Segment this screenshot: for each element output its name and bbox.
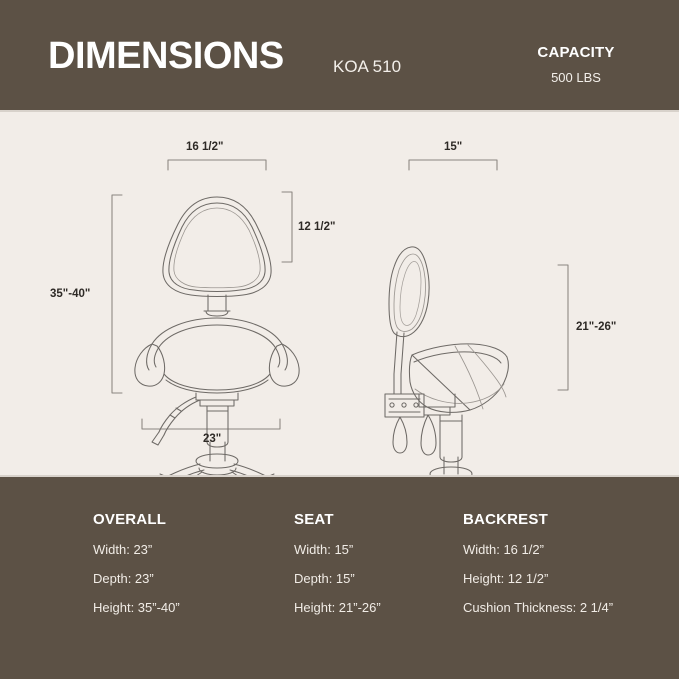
dimension-bracket-seat-height [558,265,568,390]
spec-line: Cushion Thickness: 2 1/4” [463,601,613,614]
spec-line: Depth: 15” [294,572,381,585]
spec-column-overall: OVERALL Width: 23” Depth: 23” Height: 35… [93,512,180,630]
capacity-value: 500 LBS [478,70,674,86]
spec-line: Height: 35”-40” [93,601,180,614]
dimension-bracket-overall-height [112,195,122,393]
model-code: KOA 510 [333,58,401,75]
spec-line: Height: 21”-26” [294,601,381,614]
dimension-bracket-backrest-height [282,192,292,262]
capacity-label: CAPACITY [478,44,674,63]
dimension-label-seat-height: 21"-26" [576,322,616,334]
dimension-label-overall-height: 35"-40" [50,289,90,301]
spec-column-backrest: BACKREST Width: 16 1/2” Height: 12 1/2” … [463,512,613,630]
dimension-label-backrest-width: 16 1/2" [186,142,223,154]
dimension-label-overall-width: 23" [203,434,221,446]
spec-heading: BACKREST [463,512,613,527]
spec-heading: SEAT [294,512,381,527]
spec-line: Height: 12 1/2” [463,572,613,585]
capacity-block: CAPACITY 500 LBS [478,44,674,86]
specs-band: OVERALL Width: 23” Depth: 23” Height: 35… [0,477,679,679]
spec-line: Depth: 23” [93,572,180,585]
dimension-label-backrest-height: 12 1/2" [298,222,335,234]
spec-heading: OVERALL [93,512,180,527]
dimension-bracket-backrest-width [168,160,266,170]
dimension-label-seat-depth: 15" [444,142,462,154]
stool-side-view [360,247,542,477]
page-title: DIMENSIONS [48,37,284,75]
dimension-bracket-seat-depth [409,160,497,170]
spec-line: Width: 23” [93,543,180,556]
diagram-area: 16 1/2" 12 1/2" 35"-40" 23" 15" 21"-26" [0,112,679,477]
spec-column-seat: SEAT Width: 15” Depth: 15” Height: 21”-2… [294,512,381,630]
technical-drawings [0,112,679,477]
spec-line: Width: 15” [294,543,381,556]
dimensions-infographic: DIMENSIONS KOA 510 CAPACITY 500 LBS [0,0,679,679]
spec-line: Width: 16 1/2” [463,543,613,556]
